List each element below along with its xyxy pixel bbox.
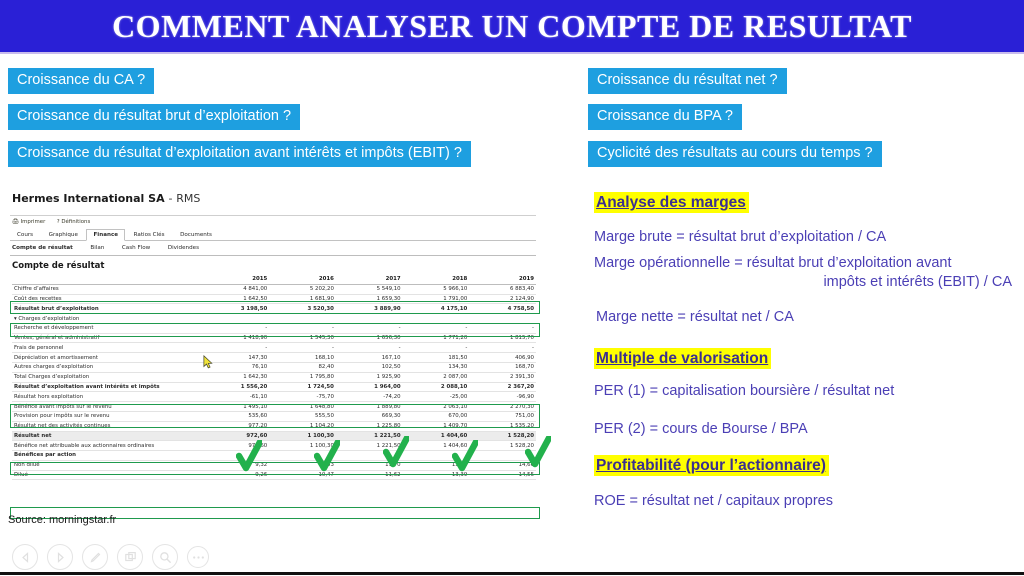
col-header-2017: 2017 — [336, 275, 403, 284]
cell-2015: 76,10 — [203, 363, 270, 373]
subtab-compte-de-resultat[interactable]: Compte de résultat — [12, 245, 73, 251]
cell-2016: 1 681,90 — [269, 294, 336, 304]
cell-2019: 168,70 — [469, 363, 536, 373]
row-label: Dépréciation et amortissement — [12, 353, 203, 363]
row-label: ▾ Charges d’exploitation — [12, 314, 203, 324]
cell-2018: - — [403, 323, 470, 333]
row-label: Résultat d’exploitation avant intérêts e… — [12, 382, 203, 392]
cell-2018: - — [403, 343, 470, 353]
row-label: Total Charges d’exploitation — [12, 372, 203, 382]
cell-2016: - — [269, 343, 336, 353]
cell-2017: 102,50 — [336, 363, 403, 373]
table-row: Chiffre d’affaires4 841,005 202,205 549,… — [12, 284, 536, 294]
cell-2015: 1 556,20 — [203, 382, 270, 392]
cell-2017: 669,30 — [336, 411, 403, 421]
cell-2019: 1 528,20 — [469, 431, 536, 441]
cell-2015: 977,20 — [203, 421, 270, 431]
next-icon[interactable] — [47, 544, 73, 570]
cell-2018: 5 966,10 — [403, 284, 470, 294]
cell-2019: 1 535,20 — [469, 421, 536, 431]
cell-2015: 972,60 — [203, 441, 270, 451]
row-label: Bénéfice avant impôts sur le revenu — [12, 402, 203, 412]
cell-2015: 3 198,50 — [203, 304, 270, 314]
formula-marge-nette: Marge nette = résultat net / CA — [596, 308, 794, 327]
cell-2016 — [269, 451, 336, 461]
cell-2017: 1 221,50 — [336, 441, 403, 451]
cell-2015: 1 418,90 — [203, 333, 270, 343]
cell-2017: 1 659,30 — [336, 294, 403, 304]
cell-2017 — [336, 314, 403, 324]
help-icon[interactable]: ? — [57, 219, 60, 225]
cell-2019: 2 391,30 — [469, 372, 536, 382]
cell-2015: -61,10 — [203, 392, 270, 402]
row-label: Ventes, général et administratif — [12, 333, 203, 343]
cell-2016: 1 795,80 — [269, 372, 336, 382]
cell-2019: 14,66 — [469, 460, 536, 470]
cell-2016: 1 100,30 — [269, 441, 336, 451]
row-label: Recherche et développement — [12, 323, 203, 333]
formula-roe: ROE = résultat net / capitaux propres — [594, 492, 833, 511]
notes-column: Analyse des marges Marge brute = résulta… — [594, 192, 1018, 213]
cell-2019: 751,00 — [469, 411, 536, 421]
cell-2015: 9,32 — [203, 460, 270, 470]
cell-2016: 1 104,20 — [269, 421, 336, 431]
cell-2017: - — [336, 343, 403, 353]
table-row: Résultat d’exploitation avant intérêts e… — [12, 382, 536, 392]
cell-2019: 2 270,30 — [469, 402, 536, 412]
cell-2016: 5 202,20 — [269, 284, 336, 294]
company-ticker: RMS — [176, 192, 200, 205]
table-row: Bénéfices par action — [12, 451, 536, 461]
cell-2017 — [336, 451, 403, 461]
cell-2015: 4 841,00 — [203, 284, 270, 294]
table-row: Coût des recettes1 642,501 681,901 659,3… — [12, 294, 536, 304]
cell-2015: 1 642,50 — [203, 294, 270, 304]
formula-marge-operationnelle-line2: impôts et intérêts (EBIT) / CA — [594, 273, 1014, 292]
cell-2017: 1 225,80 — [336, 421, 403, 431]
print-link[interactable]: Imprimer — [21, 219, 46, 225]
table-row: Ventes, général et administratif1 418,90… — [12, 333, 536, 343]
cell-2018: 1 791,00 — [403, 294, 470, 304]
row-label: Résultat hors exploitation — [12, 392, 203, 402]
cell-2018: 13,48 — [403, 460, 470, 470]
cell-2017: 167,10 — [336, 353, 403, 363]
cell-2019 — [469, 314, 536, 324]
cell-2016 — [269, 314, 336, 324]
income-statement-body: Chiffre d’affaires4 841,005 202,205 549,… — [12, 284, 536, 480]
col-header-2019: 2019 — [469, 275, 536, 284]
subtab-bilan[interactable]: Bilan — [90, 245, 104, 251]
question-chip-resultat-net: Croissance du résultat net ? — [588, 68, 787, 94]
definitions-link[interactable]: Définitions — [61, 219, 90, 225]
cell-2018: 13,39 — [403, 470, 470, 480]
cell-2018: 1 404,60 — [403, 441, 470, 451]
cell-2019 — [469, 451, 536, 461]
table-header-row: 2015 2016 2017 2018 2019 — [12, 275, 536, 284]
cell-2016: 10,47 — [269, 470, 336, 480]
tab-documents[interactable]: Documents — [173, 229, 219, 241]
row-label: Bénéfices par action — [12, 451, 203, 461]
cell-2018: 2 088,10 — [403, 382, 470, 392]
table-row: Bénéfice net attribuable aux actionnaire… — [12, 441, 536, 451]
cell-2016: 1 100,30 — [269, 431, 336, 441]
cell-2016: -75,70 — [269, 392, 336, 402]
company-separator: - — [168, 192, 172, 205]
row-label: Provision pour impôts sur le revenu — [12, 411, 203, 421]
pen-icon[interactable] — [82, 544, 108, 570]
cell-2015: 972,60 — [203, 431, 270, 441]
cell-2018 — [403, 451, 470, 461]
table-row: Provision pour impôts sur le revenu535,6… — [12, 411, 536, 421]
cell-2016: 555,50 — [269, 411, 336, 421]
table-row: Total Charges d’exploitation1 642,301 79… — [12, 372, 536, 382]
row-label: Non dilué — [12, 460, 203, 470]
cell-2018: 1 771,20 — [403, 333, 470, 343]
row-label: Chiffre d’affaires — [12, 284, 203, 294]
cell-2015: 535,60 — [203, 411, 270, 421]
question-chip-cyclicite: Cyclicité des résultats au cours du temp… — [588, 141, 882, 167]
table-row: Dépréciation et amortissement147,30168,1… — [12, 353, 536, 363]
row-label: Autres charges d’exploitation — [12, 363, 203, 373]
table-row: ▾ Charges d’exploitation — [12, 314, 536, 324]
cell-2016: 1 724,50 — [269, 382, 336, 392]
company-name: Hermes International SA — [12, 192, 165, 205]
col-header-2018: 2018 — [403, 275, 470, 284]
cell-2018 — [403, 314, 470, 324]
cell-2018: 2 063,10 — [403, 402, 470, 412]
cell-2019: - — [469, 343, 536, 353]
row-label: Coût des recettes — [12, 294, 203, 304]
col-header-2016: 2016 — [269, 275, 336, 284]
question-chip-rbe: Croissance du résultat brut d’exploitati… — [8, 104, 300, 130]
bottom-border — [0, 572, 1024, 575]
cell-2019: 1 815,70 — [469, 333, 536, 343]
row-label: Résultat brut d’exploitation — [12, 304, 203, 314]
cell-2017: - — [336, 323, 403, 333]
screenshot-toolbar: 🖨 Imprimer ? Définitions — [6, 216, 540, 227]
heading-multiple-wrap: Multiple de valorisation — [594, 348, 771, 369]
tab-cours[interactable]: Cours — [10, 229, 40, 241]
table-row: Autres charges d’exploitation76,1082,401… — [12, 363, 536, 373]
cell-2019: - — [469, 323, 536, 333]
cell-2018: 1 409,70 — [403, 421, 470, 431]
cell-2017: 3 889,90 — [336, 304, 403, 314]
cell-2019: 406,90 — [469, 353, 536, 363]
duplicate-icon[interactable] — [117, 544, 143, 570]
table-row: Résultat net972,601 100,301 221,501 404,… — [12, 431, 536, 441]
formula-per-1: PER (1) = capitalisation boursière / rés… — [594, 382, 894, 401]
cell-2016: 82,40 — [269, 363, 336, 373]
screenshot-subtabs: Compte de résultat Bilan Cash Flow Divid… — [12, 245, 536, 251]
row-label: Résultat net — [12, 431, 203, 441]
cell-2015: - — [203, 323, 270, 333]
source-caption: Source: morningstar.fr — [8, 514, 116, 526]
table-row: Dilué9,2610,4711,6213,3914,55 — [12, 470, 536, 480]
screenshot-company-header: Hermes International SA - RMS — [6, 186, 540, 205]
row-label: Dilué — [12, 470, 203, 480]
cell-2017: 1 221,50 — [336, 431, 403, 441]
cell-2015: 147,30 — [203, 353, 270, 363]
title-underline — [0, 52, 1024, 54]
slide-title-bar: COMMENT ANALYSER UN COMPTE DE RESULTAT — [0, 0, 1024, 52]
tab-ratios-cles[interactable]: Ratios Clés — [127, 229, 172, 241]
heading-multiple-de-valorisation: Multiple de valorisation — [594, 348, 771, 369]
question-chip-ebit: Croissance du résultat d’exploitation av… — [8, 141, 471, 167]
cell-2016: - — [269, 323, 336, 333]
table-row: Recherche et développement----- — [12, 323, 536, 333]
cell-2018: 670,00 — [403, 411, 470, 421]
table-row: Résultat brut d’exploitation3 198,503 52… — [12, 304, 536, 314]
cell-2016: 1 648,80 — [269, 402, 336, 412]
subtab-cash-flow[interactable]: Cash Flow — [122, 245, 150, 251]
cell-2015 — [203, 451, 270, 461]
table-row: Bénéfice avant impôts sur le revenu1 495… — [12, 402, 536, 412]
cell-2019: 4 758,50 — [469, 304, 536, 314]
cell-2016: 168,10 — [269, 353, 336, 363]
row-label: Résultat net des activités continues — [12, 421, 203, 431]
statement-section-title: Compte de résultat — [6, 256, 540, 275]
income-statement-table: 2015 2016 2017 2018 2019 Chiffre d’affai… — [12, 275, 536, 480]
heading-profitabilite: Profitabilité (pour l’actionnaire) — [594, 455, 829, 476]
cell-2017: 11,70 — [336, 460, 403, 470]
cell-2019: 2 367,20 — [469, 382, 536, 392]
tab-finance[interactable]: Finance — [86, 229, 125, 241]
row-label: Bénéfice net attribuable aux actionnaire… — [12, 441, 203, 451]
subtab-dividendes[interactable]: Dividendes — [168, 245, 199, 251]
cell-2015: 9,26 — [203, 470, 270, 480]
cell-2019: 2 124,90 — [469, 294, 536, 304]
table-row: Résultat net des activités continues977,… — [12, 421, 536, 431]
cell-2017: 1 925,90 — [336, 372, 403, 382]
formula-marge-operationnelle-line1: Marge opérationnelle = résultat brut d’e… — [594, 255, 952, 271]
row-label: Frais de personnel — [12, 343, 203, 353]
cell-2016: 1 545,30 — [269, 333, 336, 343]
cell-2016: 10,53 — [269, 460, 336, 470]
cell-2018: 134,30 — [403, 363, 470, 373]
morningstar-screenshot: Hermes International SA - RMS 🖨 Imprimer… — [6, 186, 540, 532]
cell-2018: 2 087,00 — [403, 372, 470, 382]
screenshot-tabs: Cours Graphique Finance Ratios Clés Docu… — [10, 228, 536, 241]
table-row: Résultat hors exploitation-61,10-75,70-7… — [12, 392, 536, 402]
cell-2015: 1 642,30 — [203, 372, 270, 382]
cell-2017: 1 964,00 — [336, 382, 403, 392]
zoom-icon[interactable] — [152, 544, 178, 570]
page-title: COMMENT ANALYSER UN COMPTE DE RESULTAT — [112, 8, 912, 45]
tab-graphique[interactable]: Graphique — [42, 229, 85, 241]
cell-2017: 11,62 — [336, 470, 403, 480]
formula-marge-brute: Marge brute = résultat brut d’exploitati… — [594, 228, 886, 247]
previous-icon[interactable] — [12, 544, 38, 570]
presentation-toolbar — [0, 540, 1024, 576]
table-row: Non dilué9,3210,5311,7013,4814,66 — [12, 460, 536, 470]
table-row: Frais de personnel----- — [12, 343, 536, 353]
cell-2019: 1 528,20 — [469, 441, 536, 451]
cell-2015: - — [203, 343, 270, 353]
heading-profitabilite-wrap: Profitabilité (pour l’actionnaire) — [594, 455, 829, 476]
cell-2018: -25,00 — [403, 392, 470, 402]
cell-2017: -74,20 — [336, 392, 403, 402]
cell-2015 — [203, 314, 270, 324]
heading-analyse-des-marges: Analyse des marges — [594, 192, 749, 213]
formula-per-2: PER (2) = cours de Bourse / BPA — [594, 420, 808, 439]
more-icon[interactable] — [187, 546, 209, 568]
cell-2015: 1 495,10 — [203, 402, 270, 412]
col-header-2015: 2015 — [203, 275, 270, 284]
cell-2018: 1 404,60 — [403, 431, 470, 441]
printer-icon[interactable]: 🖨 — [12, 219, 19, 225]
formula-marge-operationnelle: Marge opérationnelle = résultat brut d’e… — [594, 254, 1014, 292]
cell-2017: 5 549,10 — [336, 284, 403, 294]
cell-2018: 181,50 — [403, 353, 470, 363]
cell-2018: 4 175,10 — [403, 304, 470, 314]
cell-2017: 1 656,30 — [336, 333, 403, 343]
cell-2019: -96,90 — [469, 392, 536, 402]
cell-2019: 6 883,40 — [469, 284, 536, 294]
question-chip-bpa: Croissance du BPA ? — [588, 104, 742, 130]
cell-2019: 14,55 — [469, 470, 536, 480]
cell-2016: 3 520,30 — [269, 304, 336, 314]
question-chip-ca: Croissance du CA ? — [8, 68, 154, 94]
cell-2017: 1 889,80 — [336, 402, 403, 412]
col-header-label — [12, 275, 203, 284]
